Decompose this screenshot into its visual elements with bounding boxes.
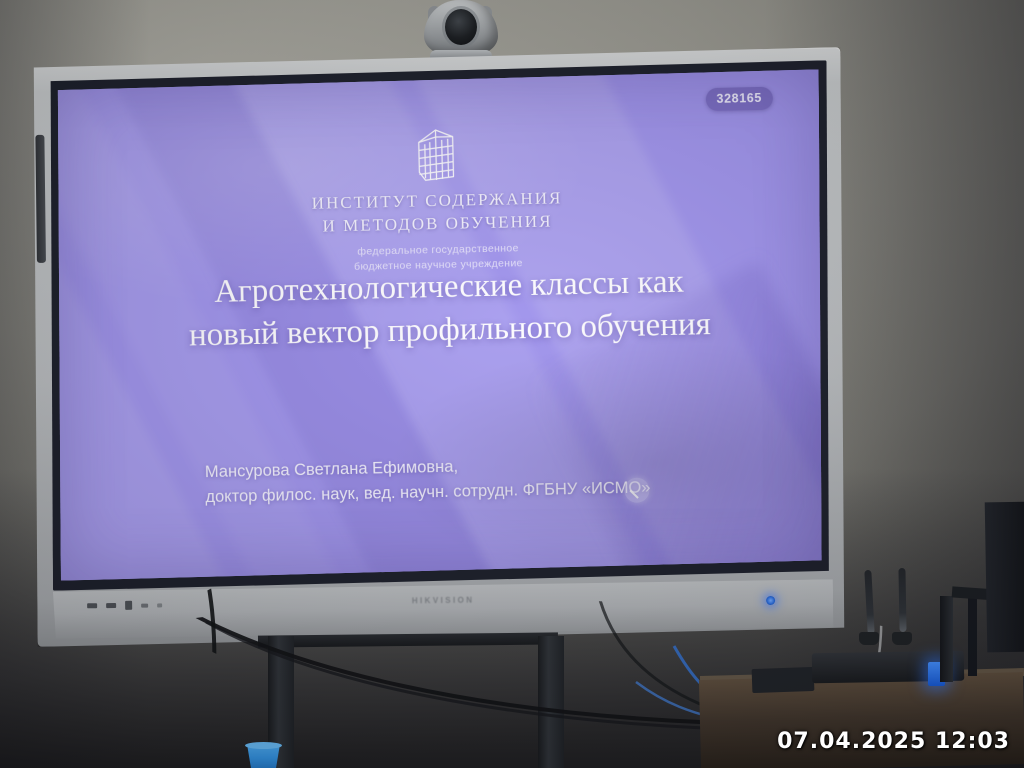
- slide-title: Агротехнологические классы как новый век…: [117, 259, 783, 359]
- institute-logo-block: ИНСТИТУТ СОДЕРЖАНИЯ И МЕТОДОВ ОБУЧЕНИЯ ф…: [55, 120, 821, 282]
- power-led-indicator[interactable]: [766, 596, 775, 605]
- camera-lens-icon: [445, 9, 477, 45]
- antenna-base-left: [859, 632, 879, 645]
- interactive-display[interactable]: 328165: [30, 47, 847, 647]
- display-port[interactable]: [125, 601, 132, 610]
- display-power-cable: [180, 560, 600, 680]
- display-port[interactable]: [106, 603, 116, 608]
- display-screen[interactable]: 328165: [55, 69, 825, 580]
- institute-name: ИНСТИТУТ СОДЕРЖАНИЯ И МЕТОДОВ ОБУЧЕНИЯ: [312, 187, 564, 238]
- monitor-mount-post-secondary: [968, 598, 977, 676]
- photo-scene: 328165: [0, 0, 1024, 768]
- slide-session-badge[interactable]: 328165: [705, 87, 773, 111]
- display-port[interactable]: [157, 603, 162, 607]
- monitor-mount-post: [940, 596, 953, 682]
- equipment-box: [752, 667, 815, 693]
- camera-timestamp-overlay: 07.04.2025 12:03: [777, 729, 1010, 754]
- display-port[interactable]: [87, 603, 97, 608]
- display-port[interactable]: [141, 603, 148, 607]
- secondary-monitor[interactable]: [985, 502, 1024, 653]
- display-side-handle: [35, 135, 46, 263]
- blue-cup-rim: [245, 742, 282, 749]
- presentation-slide: 328165: [55, 69, 825, 580]
- slide-author: Мансурова Светлана Ефимовна, доктор фило…: [205, 447, 786, 511]
- antenna-base-right: [892, 632, 912, 645]
- router-antenna-right: [898, 568, 906, 632]
- institute-building-icon: [412, 128, 459, 183]
- display-port-cluster[interactable]: [87, 600, 162, 610]
